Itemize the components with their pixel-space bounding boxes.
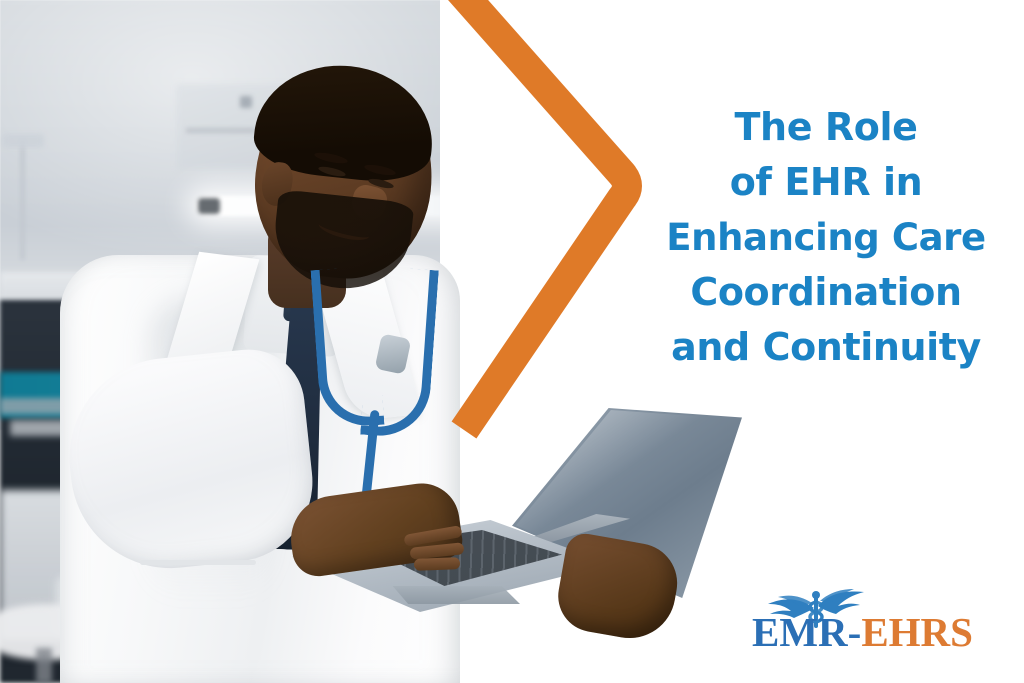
headline-line-1: The Role (640, 100, 1012, 155)
promo-banner: The Role of EHR in Enhancing Care Coordi… (0, 0, 1024, 683)
headline-line-4: Coordination (640, 265, 1012, 320)
headline-line-3: Enhancing Care (640, 210, 1012, 265)
logo-text-dash: - (848, 609, 862, 655)
logo-text-emr: EMR (752, 609, 848, 655)
page-title: The Role of EHR in Enhancing Care Coordi… (640, 100, 1012, 375)
headline-line-2: of EHR in (640, 155, 1012, 210)
lab-coat-pocket (140, 560, 256, 565)
finger (414, 557, 460, 571)
headline-line-5: and Continuity (640, 320, 1012, 375)
brand-logo[interactable]: EMR-EHRS (752, 588, 988, 656)
laptop-front-edge (390, 586, 520, 604)
logo-wordmark: EMR-EHRS (752, 610, 988, 654)
logo-text-ehrs: EHRS (861, 609, 973, 655)
